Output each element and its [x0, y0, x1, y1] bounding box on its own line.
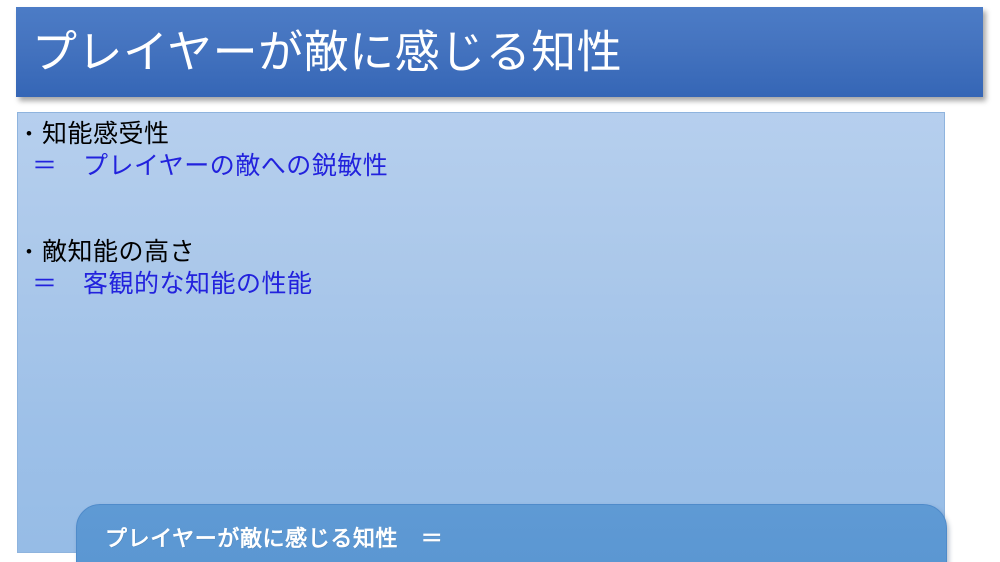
slide-body-panel: • 知能感受性 ＝ プレイヤーの敵への鋭敏性 • 敵知能の高さ ＝ 客観的な知能…	[17, 112, 945, 553]
bullet-group-2: • 敵知能の高さ ＝ 客観的な知能の性能	[26, 237, 926, 301]
slide-title-bar: プレイヤーが敵に感じる知性	[16, 7, 983, 97]
formula-heading: プレイヤーが敵に感じる知性 ＝	[105, 521, 443, 553]
formula-callout-box: プレイヤーが敵に感じる知性 ＝ （知能感受性） x （敵知能の高さ） x （主体…	[76, 504, 947, 562]
bullet-group-1: • 知能感受性 ＝ プレイヤーの敵への鋭敏性	[26, 119, 926, 183]
bullet-dot-icon: •	[26, 125, 42, 142]
bullet-equation: ＝ プレイヤーの敵への鋭敏性	[26, 150, 926, 183]
bullet-item: • 敵知能の高さ	[26, 237, 926, 268]
bullet-dot-icon: •	[26, 243, 42, 260]
slide: プレイヤーが敵に感じる知性 • 知能感受性 ＝ プレイヤーの敵への鋭敏性 • 敵…	[0, 0, 1000, 562]
bullet-label: 敵知能の高さ	[42, 237, 195, 268]
bullet-equation: ＝ 客観的な知能の性能	[26, 268, 926, 301]
bullet-item: • 知能感受性	[26, 119, 926, 150]
bullet-label: 知能感受性	[42, 119, 170, 150]
page-title: プレイヤーが敵に感じる知性	[32, 28, 622, 75]
